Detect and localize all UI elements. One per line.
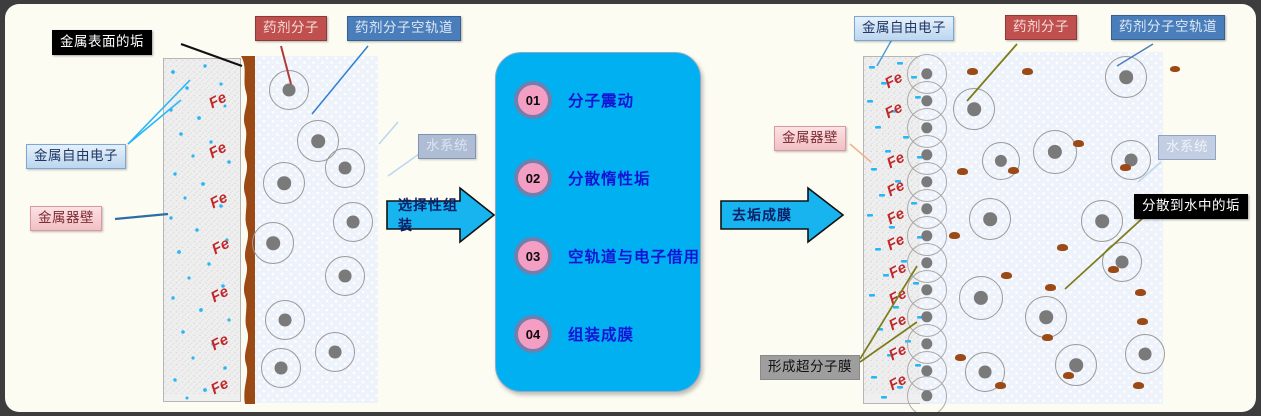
label-metal-surface-scale: 金属表面的垢 (52, 30, 152, 55)
agent-molecule (325, 148, 365, 188)
agent-molecule (263, 162, 305, 204)
label-metal-free-electron: 金属自由电子 (854, 16, 954, 41)
agent-molecule (265, 300, 305, 340)
step-number-badge: 02 (514, 159, 552, 197)
agent-molecule (1125, 334, 1165, 374)
label-metal-vessel-wall: 金属器壁 (30, 206, 102, 231)
label-agent-molecule: 药剂分子 (255, 16, 327, 41)
agent-molecule (1055, 344, 1097, 386)
label-agent-empty-orbital: 药剂分子空轨道 (347, 16, 461, 41)
outer-frame: Fe Fe Fe Fe Fe Fe Fe 01 分子震动 (0, 0, 1261, 416)
agent-molecule (333, 202, 373, 242)
scale-speck (1008, 167, 1019, 174)
scale-speck (1022, 68, 1033, 75)
step-number-badge: 04 (514, 315, 552, 353)
scale-speck (949, 232, 960, 239)
steps-panel: 01 分子震动 02 分散惰性垢 03 空轨道与电子借用 04 组装成膜 (495, 52, 701, 392)
label-water-system: 水系统 (418, 134, 476, 159)
agent-molecule (1033, 130, 1077, 174)
agent-molecule (315, 332, 355, 372)
agent-molecule (982, 142, 1020, 180)
scale-speck (967, 68, 978, 75)
label-agent-molecule: 药剂分子 (1005, 15, 1077, 40)
agent-molecule (269, 70, 309, 110)
agent-molecule (953, 88, 995, 130)
label-metal-free-electron: 金属自由电子 (26, 144, 126, 169)
label-supramolecular-film-formed: 形成超分子膜 (760, 355, 860, 380)
scale-speck (1042, 334, 1053, 341)
scale-speck (995, 382, 1006, 389)
label-metal-vessel-wall: 金属器壁 (774, 126, 846, 151)
step-row[interactable]: 04 组装成膜 (514, 315, 634, 353)
agent-molecule (959, 276, 1003, 320)
arrow-selective-assembly[interactable]: 选择性组装 (386, 186, 496, 244)
scale-speck (1170, 66, 1180, 72)
scale-speck (1120, 164, 1131, 171)
arrow-label: 去垢成膜 (720, 186, 808, 244)
scale-speck (1057, 244, 1068, 251)
step-label: 空轨道与电子借用 (568, 245, 700, 267)
scale-speck (955, 354, 966, 361)
scale-speck (1135, 289, 1146, 296)
step-row[interactable]: 03 空轨道与电子借用 (514, 237, 700, 275)
scale-speck (957, 168, 968, 175)
label-scale-dispersed-in-water: 分散到水中的垢 (1134, 194, 1248, 219)
agent-molecule (969, 198, 1011, 240)
step-row[interactable]: 02 分散惰性垢 (514, 159, 651, 197)
step-number-badge: 01 (514, 81, 552, 119)
scale-speck (1001, 272, 1012, 279)
step-number-badge: 03 (514, 237, 552, 275)
diagram-page: Fe Fe Fe Fe Fe Fe Fe 01 分子震动 (5, 4, 1256, 412)
scale-speck (1108, 266, 1119, 273)
agent-molecule (1081, 200, 1123, 242)
agent-molecule (252, 222, 294, 264)
arrow-descale-film[interactable]: 去垢成膜 (720, 186, 845, 244)
step-label: 组装成膜 (568, 323, 634, 345)
agent-molecule (1105, 56, 1147, 98)
scale-speck (1137, 318, 1148, 325)
step-label: 分子震动 (568, 89, 634, 111)
arrow-label: 选择性组装 (386, 186, 460, 244)
step-row[interactable]: 01 分子震动 (514, 81, 634, 119)
diagram-canvas: Fe Fe Fe Fe Fe Fe Fe 01 分子震动 (0, 0, 1261, 416)
agent-molecule (1111, 140, 1151, 180)
agent-molecule (1025, 296, 1067, 338)
scale-speck (1063, 372, 1074, 379)
scale-speck (1133, 382, 1144, 389)
agent-molecule (325, 256, 365, 296)
scale-speck (1045, 284, 1056, 291)
step-label: 分散惰性垢 (568, 167, 651, 189)
film-molecule (907, 376, 947, 412)
free-electron-dots (163, 58, 241, 402)
agent-molecule (261, 348, 301, 388)
label-agent-empty-orbital: 药剂分子空轨道 (1111, 15, 1225, 40)
scale-speck (1073, 140, 1084, 147)
agent-molecule (1102, 242, 1142, 282)
label-water-system: 水系统 (1158, 135, 1216, 160)
